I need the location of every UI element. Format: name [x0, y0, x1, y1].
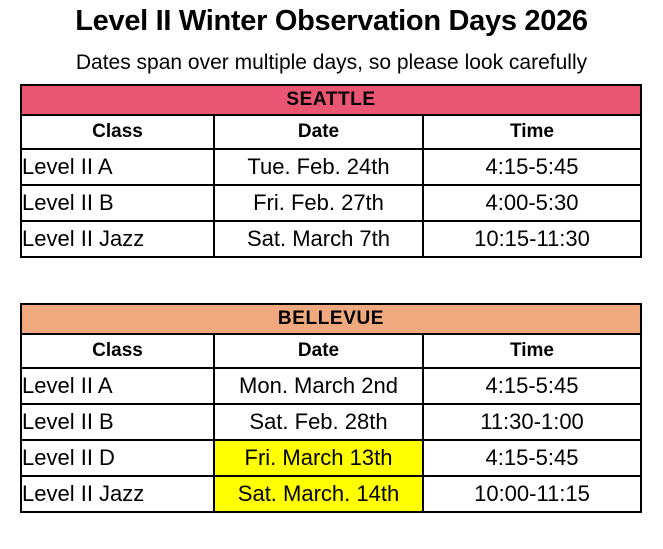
location-banner-seattle: SEATTLE: [21, 85, 641, 115]
cell-class: Level II A: [21, 149, 214, 185]
schedule-table-seattle: SEATTLE Class Date Time Level II A Tue. …: [20, 84, 642, 258]
table-body-seattle: SEATTLE Class Date Time Level II A Tue. …: [21, 85, 641, 257]
page-title: Level II Winter Observation Days 2026: [0, 4, 663, 38]
column-header-row: Class Date Time: [21, 115, 641, 149]
table-row: Level II Jazz Sat. March. 14th 10:00-11:…: [21, 476, 641, 512]
cell-time: 4:15-5:45: [423, 368, 641, 404]
location-banner-row: SEATTLE: [21, 85, 641, 115]
location-banner-bellevue: BELLEVUE: [21, 304, 641, 334]
cell-class: Level II D: [21, 440, 214, 476]
column-header-class: Class: [21, 115, 214, 149]
column-header-date: Date: [214, 115, 423, 149]
location-banner-row: BELLEVUE: [21, 304, 641, 334]
cell-class: Level II Jazz: [21, 476, 214, 512]
table-body-bellevue: BELLEVUE Class Date Time Level II A Mon.…: [21, 304, 641, 512]
cell-date: Tue. Feb. 24th: [214, 149, 423, 185]
cell-time: 10:00-11:15: [423, 476, 641, 512]
cell-date: Sat. Feb. 28th: [214, 404, 423, 440]
cell-time: 10:15-11:30: [423, 221, 641, 257]
column-header-row: Class Date Time: [21, 334, 641, 368]
cell-date-highlighted: Fri. March 13th: [214, 440, 423, 476]
cell-class: Level II B: [21, 185, 214, 221]
cell-date: Fri. Feb. 27th: [214, 185, 423, 221]
cell-time: 11:30-1:00: [423, 404, 641, 440]
table-row: Level II B Sat. Feb. 28th 11:30-1:00: [21, 404, 641, 440]
observation-days-flyer: Level II Winter Observation Days 2026 Da…: [0, 0, 663, 549]
column-header-time: Time: [423, 334, 641, 368]
cell-class: Level II Jazz: [21, 221, 214, 257]
cell-class: Level II B: [21, 404, 214, 440]
page-subtitle: Dates span over multiple days, so please…: [0, 50, 663, 76]
table-row: Level II B Fri. Feb. 27th 4:00-5:30: [21, 185, 641, 221]
cell-date: Sat. March 7th: [214, 221, 423, 257]
cell-time: 4:00-5:30: [423, 185, 641, 221]
cell-date-highlighted: Sat. March. 14th: [214, 476, 423, 512]
cell-time: 4:15-5:45: [423, 149, 641, 185]
table-row: Level II D Fri. March 13th 4:15-5:45: [21, 440, 641, 476]
column-header-time: Time: [423, 115, 641, 149]
table-row: Level II Jazz Sat. March 7th 10:15-11:30: [21, 221, 641, 257]
table-row: Level II A Mon. March 2nd 4:15-5:45: [21, 368, 641, 404]
column-header-date: Date: [214, 334, 423, 368]
cell-date: Mon. March 2nd: [214, 368, 423, 404]
cell-class: Level II A: [21, 368, 214, 404]
table-row: Level II A Tue. Feb. 24th 4:15-5:45: [21, 149, 641, 185]
cell-time: 4:15-5:45: [423, 440, 641, 476]
schedule-table-bellevue: BELLEVUE Class Date Time Level II A Mon.…: [20, 303, 642, 513]
column-header-class: Class: [21, 334, 214, 368]
